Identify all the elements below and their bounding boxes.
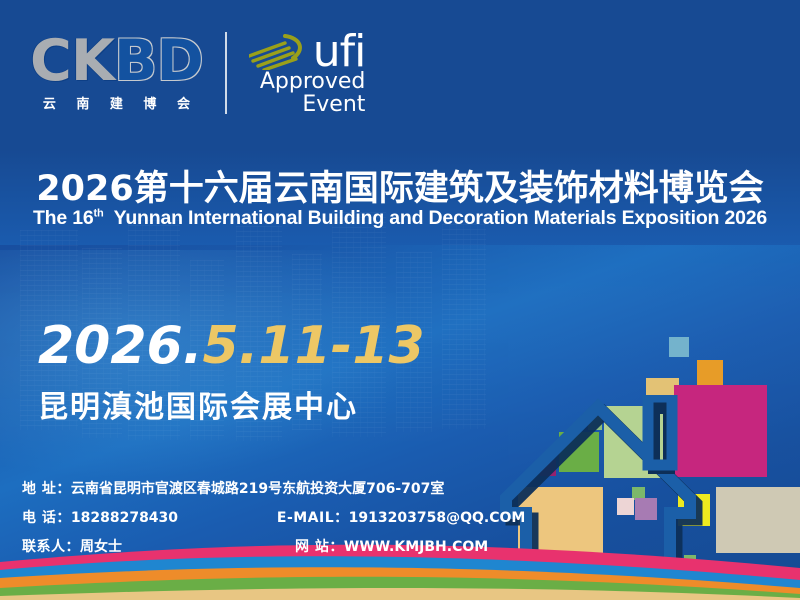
ckbd-chinese-name: 云 南 建 博 会	[35, 93, 198, 112]
event-month-day: 5.11-13	[202, 316, 424, 376]
phone-label: 电 话：	[22, 507, 71, 527]
email-value[interactable]: 1913203758@QQ.COM	[349, 510, 526, 526]
ckbd-logo[interactable]: CKBD 云 南 建 博 会	[30, 34, 203, 112]
ckbd-letter-d: D	[156, 28, 202, 94]
title-en-body: Yunnan International Building and Decora…	[114, 207, 767, 229]
ckbd-wordmark: CKBD	[30, 34, 203, 88]
ufi-event-label: Event	[302, 93, 365, 116]
website-label: 网 站：	[295, 536, 344, 556]
ckbd-letter-c: C	[30, 28, 71, 94]
phone-value: 18288278430	[71, 510, 277, 526]
tower-9	[442, 224, 486, 429]
address-value: 云南省昆明市官渡区春城路219号东航投资大厦706-707室	[71, 478, 444, 498]
title-en-ordinal: th	[94, 208, 104, 220]
decor-square-light-blue-small-top	[669, 337, 689, 357]
ufi-wordmark-text: ufi	[313, 33, 366, 70]
contact-block: 地 址： 云南省昆明市官渡区春城路219号东航投资大厦706-707室 电 话：…	[22, 478, 525, 565]
event-venue: 昆明滇池国际会展中心	[38, 382, 358, 426]
website-value[interactable]: WWW.KMJBH.COM	[344, 539, 488, 555]
person-value: 周女士	[80, 536, 295, 556]
ufi-swoosh-icon	[249, 30, 311, 70]
contact-row-address: 地 址： 云南省昆明市官渡区春城路219号东航投资大厦706-707室	[22, 478, 525, 507]
logo-divider	[225, 32, 227, 114]
event-date: 2026.5.11-13	[38, 320, 425, 372]
contact-row-person: 联系人： 周女士 网 站： WWW.KMJBH.COM	[22, 536, 525, 565]
address-label: 地 址：	[22, 478, 71, 498]
poster-canvas: CKBD 云 南 建 博 会 ufi Approved Event	[0, 0, 800, 600]
event-year: 2026.	[38, 316, 202, 376]
ckbd-letter-b: B	[114, 28, 156, 94]
header-logos: CKBD 云 南 建 博 会 ufi Approved Event	[30, 30, 365, 116]
title-en-prefix: The 16	[33, 207, 94, 229]
person-label: 联系人：	[22, 536, 80, 556]
ckbd-letter-k: K	[71, 28, 114, 94]
contact-row-phone: 电 话： 18288278430 E-MAIL： 1913203758@QQ.C…	[22, 507, 525, 536]
ufi-wordmark-row: ufi	[249, 30, 366, 70]
email-label: E-MAIL：	[277, 507, 349, 527]
ufi-logo[interactable]: ufi Approved Event	[249, 30, 366, 116]
event-title-english: The 16th Yunnan International Building a…	[0, 207, 800, 230]
decor-square-orange-small	[697, 360, 723, 386]
ufi-approved-label: Approved	[260, 70, 366, 93]
event-title-chinese: 2026第十六届云南国际建筑及装饰材料博览会	[0, 160, 800, 211]
